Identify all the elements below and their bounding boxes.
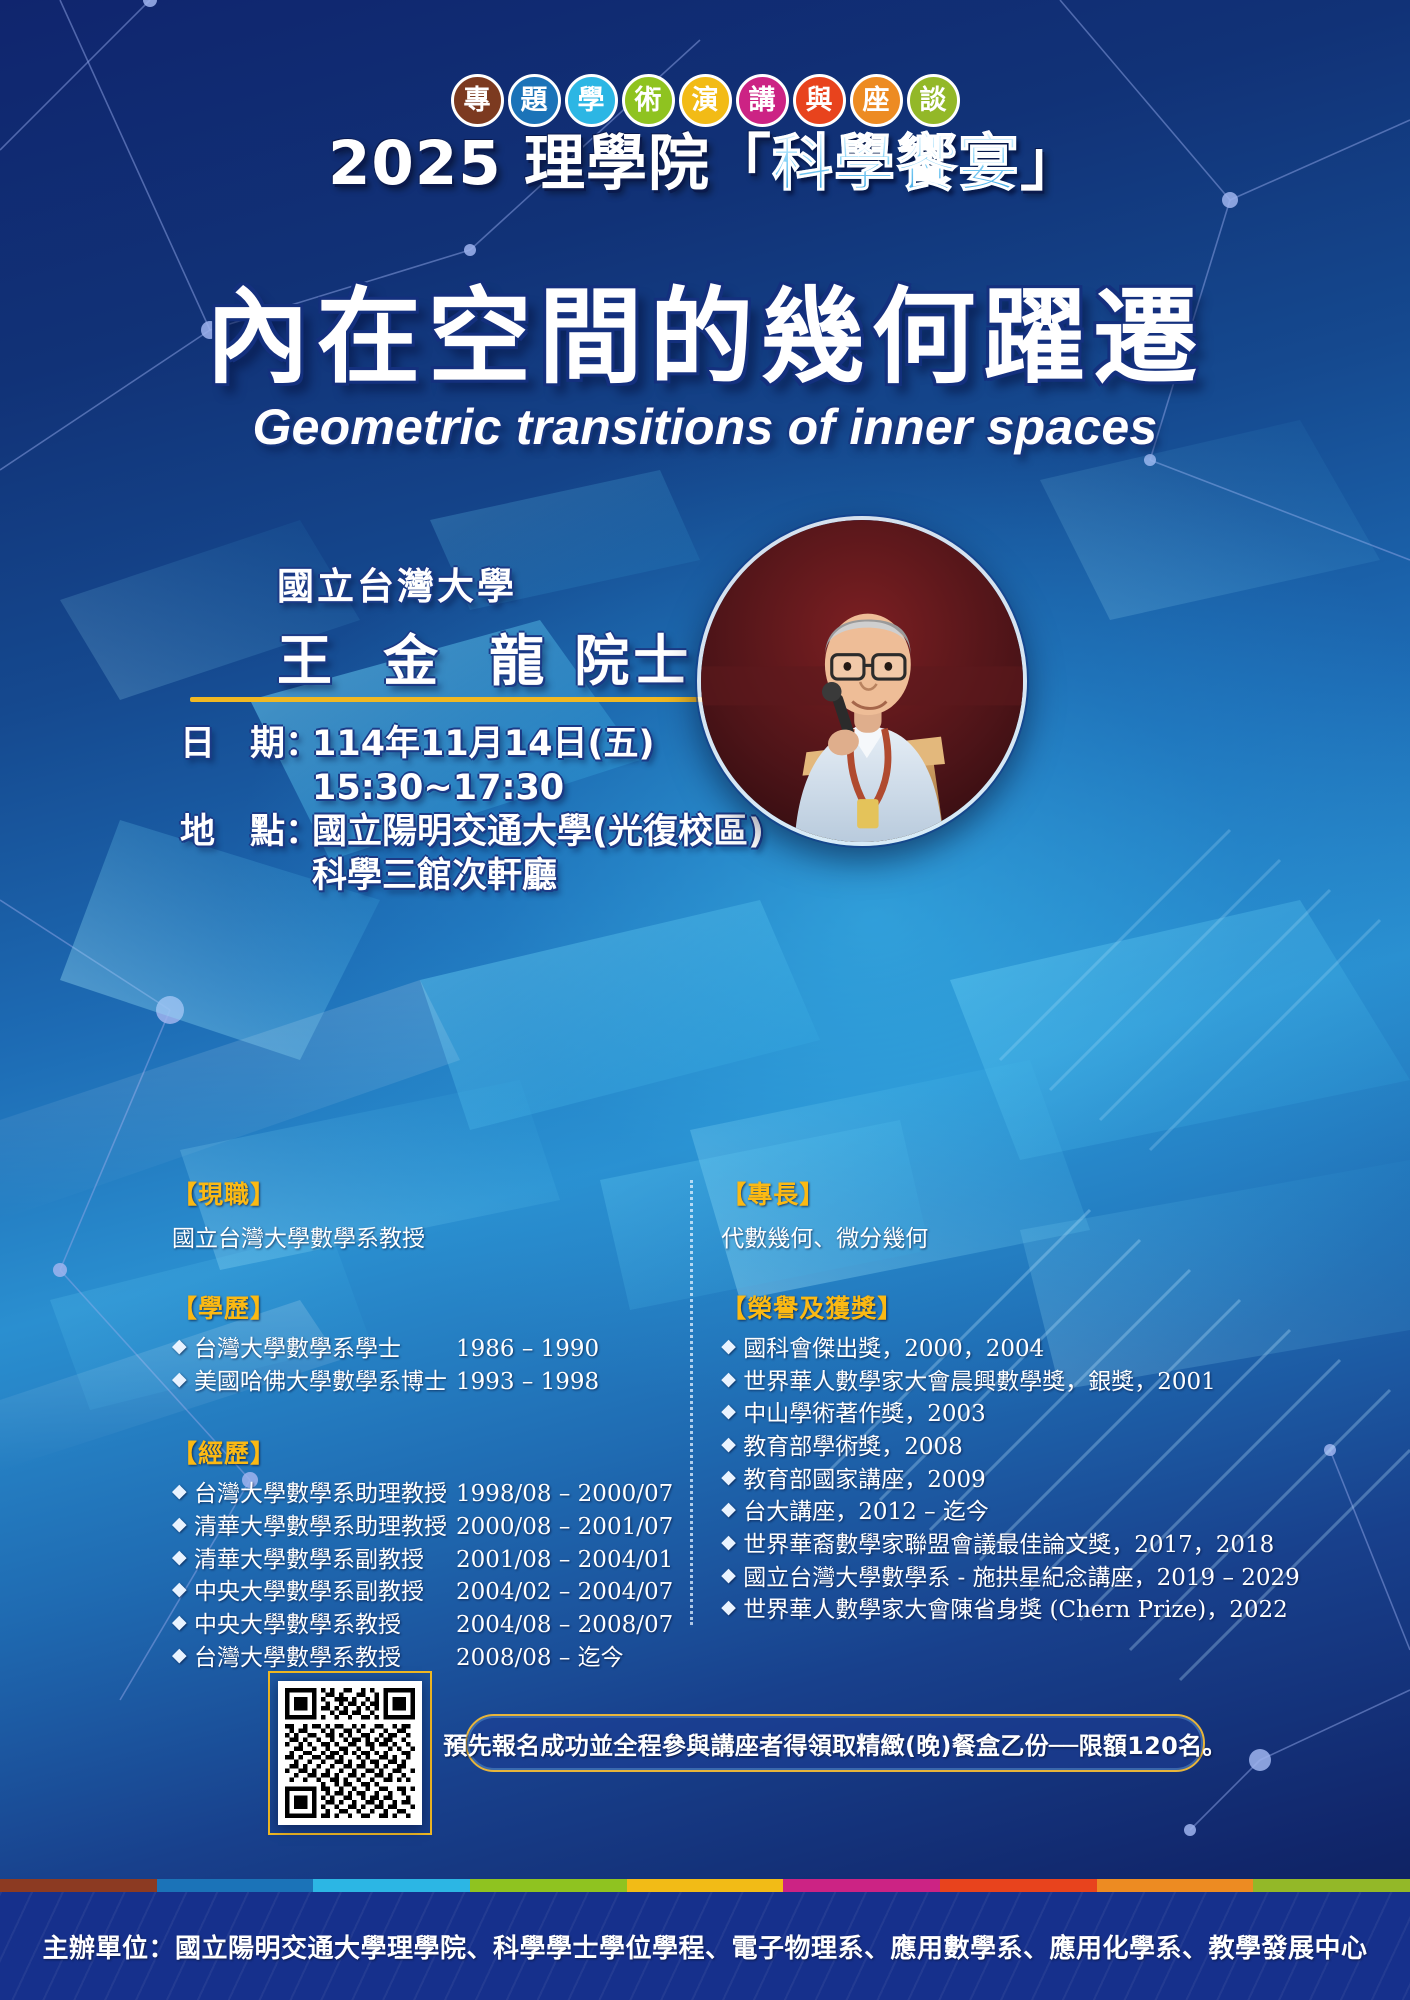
diamond-bullet-icon: ◆ bbox=[172, 1642, 194, 1675]
series-chip-演: 演 bbox=[679, 74, 732, 127]
speaker-title: 院士 bbox=[574, 629, 692, 693]
series-title: 2025 理學院「科學饗宴」 bbox=[0, 133, 1410, 194]
list-item: ◆ 中山學術著作獎，2003 bbox=[721, 1398, 1281, 1431]
color-bar-segment bbox=[470, 1879, 627, 1892]
diamond-bullet-icon: ◆ bbox=[172, 1366, 194, 1399]
awards-list: ◆ 國科會傑出獎，2000，2004 ◆ 世界華人數學家大會晨興數學獎，銀獎，2… bbox=[721, 1333, 1281, 1627]
education-list: ◆ 台灣大學數學系學士 1986 – 1990 ◆ 美國哈佛大學數學系博士 19… bbox=[172, 1333, 673, 1398]
award-text: 台大講座，2012 – 迄今 bbox=[743, 1496, 989, 1529]
detail-row-venue: 地 點： 國立陽明交通大學(光復校區) bbox=[180, 810, 740, 854]
series-chip-與: 與 bbox=[793, 74, 846, 127]
experience-years: 2004/02 – 2004/07 bbox=[456, 1576, 673, 1609]
speaker-photo-illustration bbox=[701, 520, 1023, 842]
footer-color-bar bbox=[0, 1879, 1410, 1892]
series-chip-row: 專 題 學 術 演 講 與 座 談 bbox=[0, 74, 1410, 127]
color-bar-segment bbox=[157, 1879, 314, 1892]
speaker-photo bbox=[697, 516, 1027, 846]
education-name: 美國哈佛大學數學系博士 bbox=[194, 1366, 456, 1399]
detail-value: 國立陽明交通大學(光復校區) bbox=[312, 810, 764, 854]
experience-name: 台灣大學數學系助理教授 bbox=[194, 1478, 456, 1511]
diamond-bullet-icon: ◆ bbox=[721, 1431, 743, 1464]
diamond-bullet-icon: ◆ bbox=[721, 1562, 743, 1595]
experience-years: 2001/08 – 2004/01 bbox=[456, 1544, 673, 1577]
poster-canvas: 專 題 學 術 演 講 與 座 談 2025 理學院「科學饗宴」 內在空間的幾何… bbox=[0, 0, 1410, 2000]
diamond-bullet-icon: ◆ bbox=[172, 1544, 194, 1577]
series-chip-專: 專 bbox=[451, 74, 504, 127]
series-chip-談: 談 bbox=[907, 74, 960, 127]
specialty-text: 代數幾何、微分幾何 bbox=[721, 1219, 1281, 1253]
speaker-affiliation: 國立台灣大學 bbox=[277, 556, 517, 610]
biography-right-column: 【專長】 代數幾何、微分幾何 【榮譽及獲獎】 ◆ 國科會傑出獎，2000，200… bbox=[721, 1175, 1281, 1674]
list-item: ◆ 中央大學數學系副教授 2004/02 – 2004/07 bbox=[172, 1576, 673, 1609]
list-item: ◆ 世界華人數學家大會陳省身獎 (Chern Prize)，2022 bbox=[721, 1594, 1281, 1627]
section-heading-current-position: 【現職】 bbox=[172, 1175, 673, 1211]
biography-section: 【現職】 國立台灣大學數學系教授 【學歷】 ◆ 台灣大學數學系學士 1986 –… bbox=[172, 1175, 1262, 1674]
footer-bar: 主辦單位：國立陽明交通大學理學院、科學學士學位學程、電子物理系、應用數學系、應用… bbox=[0, 1892, 1410, 2000]
experience-name: 台灣大學數學系教授 bbox=[194, 1642, 456, 1675]
detail-row-room: 科學三館次軒廳 bbox=[180, 854, 740, 898]
experience-years: 1998/08 – 2000/07 bbox=[456, 1478, 673, 1511]
divider-rule bbox=[190, 697, 730, 702]
series-title-suffix: 」 bbox=[1020, 128, 1082, 199]
list-item: ◆ 中央大學數學系教授 2004/08 – 2008/07 bbox=[172, 1609, 673, 1642]
award-text: 國科會傑出獎，2000，2004 bbox=[743, 1333, 1044, 1366]
footer-organizers-text: 主辦單位：國立陽明交通大學理學院、科學學士學位學程、電子物理系、應用數學系、應用… bbox=[42, 1928, 1367, 1965]
color-bar-segment bbox=[1253, 1879, 1410, 1892]
section-heading-experience: 【經歷】 bbox=[172, 1434, 673, 1470]
education-years: 1993 – 1998 bbox=[456, 1366, 599, 1399]
award-text: 國立台灣大學數學系 - 施拱星紀念講座，2019 – 2029 bbox=[743, 1562, 1300, 1595]
diamond-bullet-icon: ◆ bbox=[721, 1464, 743, 1497]
series-chip-題: 題 bbox=[508, 74, 561, 127]
diamond-bullet-icon: ◆ bbox=[172, 1609, 194, 1642]
list-item: ◆ 教育部國家講座，2009 bbox=[721, 1464, 1281, 1497]
color-bar-segment bbox=[0, 1879, 157, 1892]
series-title-prefix: 2025 理學院「 bbox=[328, 128, 772, 199]
event-details: 日 期： 114年11月14日(五) 15:30~17:30 地 點： 國立陽明… bbox=[180, 722, 740, 898]
section-heading-awards: 【榮譽及獲獎】 bbox=[721, 1289, 1281, 1325]
experience-name: 清華大學數學系副教授 bbox=[194, 1544, 456, 1577]
diamond-bullet-icon: ◆ bbox=[721, 1398, 743, 1431]
experience-name: 中央大學數學系教授 bbox=[194, 1609, 456, 1642]
diamond-bullet-icon: ◆ bbox=[721, 1594, 743, 1627]
education-name: 台灣大學數學系學士 bbox=[194, 1333, 456, 1366]
page-subtitle: Geometric transitions of inner spaces bbox=[0, 398, 1410, 456]
qr-code[interactable] bbox=[278, 1681, 422, 1825]
experience-years: 2000/08 – 2001/07 bbox=[456, 1511, 673, 1544]
color-bar-segment bbox=[783, 1879, 940, 1892]
color-bar-segment bbox=[940, 1879, 1097, 1892]
diamond-bullet-icon: ◆ bbox=[172, 1511, 194, 1544]
detail-value: 114年11月14日(五) bbox=[312, 722, 740, 766]
detail-label: 地 點： bbox=[180, 810, 312, 854]
list-item: ◆ 台大講座，2012 – 迄今 bbox=[721, 1496, 1281, 1529]
list-item: ◆ 台灣大學數學系助理教授 1998/08 – 2000/07 bbox=[172, 1478, 673, 1511]
list-item: ◆ 台灣大學數學系教授 2008/08 – 迄今 bbox=[172, 1642, 673, 1675]
diamond-bullet-icon: ◆ bbox=[172, 1576, 194, 1609]
list-item: ◆ 美國哈佛大學數學系博士 1993 – 1998 bbox=[172, 1366, 673, 1399]
list-item: ◆ 國科會傑出獎，2000，2004 bbox=[721, 1333, 1281, 1366]
diamond-bullet-icon: ◆ bbox=[721, 1333, 743, 1366]
page-title: 內在空間的幾何躍遷 bbox=[0, 278, 1410, 398]
detail-label: 日 期： bbox=[180, 722, 312, 766]
qr-code-image bbox=[285, 1688, 415, 1818]
diamond-bullet-icon: ◆ bbox=[721, 1496, 743, 1529]
award-text: 教育部國家講座，2009 bbox=[743, 1464, 986, 1497]
education-years: 1986 – 1990 bbox=[456, 1333, 599, 1366]
diamond-bullet-icon: ◆ bbox=[721, 1366, 743, 1399]
award-text: 世界華裔數學家聯盟會議最佳論文獎，2017，2018 bbox=[743, 1529, 1274, 1562]
series-chip-術: 術 bbox=[622, 74, 675, 127]
series-chip-學: 學 bbox=[565, 74, 618, 127]
series-chip-座: 座 bbox=[850, 74, 903, 127]
list-item: ◆ 教育部學術獎，2008 bbox=[721, 1431, 1281, 1464]
color-bar-segment bbox=[1097, 1879, 1254, 1892]
speaker-name: 王 金 龍 bbox=[277, 629, 560, 693]
diamond-bullet-icon: ◆ bbox=[172, 1478, 194, 1511]
experience-years: 2004/08 – 2008/07 bbox=[456, 1609, 673, 1642]
registration-notice-text: 預先報名成功並全程參與講座者得領取精緻(晚)餐盒乙份──限額120名。 bbox=[443, 1726, 1226, 1761]
detail-row-date: 日 期： 114年11月14日(五) bbox=[180, 722, 740, 766]
series-chip-講: 講 bbox=[736, 74, 789, 127]
award-text: 中山學術著作獎，2003 bbox=[743, 1398, 986, 1431]
registration-notice: 預先報名成功並全程參與講座者得領取精緻(晚)餐盒乙份──限額120名。 bbox=[465, 1714, 1205, 1772]
list-item: ◆ 世界華裔數學家聯盟會議最佳論文獎，2017，2018 bbox=[721, 1529, 1281, 1562]
experience-name: 中央大學數學系副教授 bbox=[194, 1576, 456, 1609]
section-heading-specialty: 【專長】 bbox=[721, 1175, 1281, 1211]
list-item: ◆ 世界華人數學家大會晨興數學獎，銀獎，2001 bbox=[721, 1366, 1281, 1399]
award-text: 教育部學術獎，2008 bbox=[743, 1431, 963, 1464]
detail-row-time: 15:30~17:30 bbox=[180, 766, 740, 810]
color-bar-segment bbox=[627, 1879, 784, 1892]
experience-years: 2008/08 – 迄今 bbox=[456, 1642, 624, 1675]
speaker-name-row: 王 金 龍院士 bbox=[277, 616, 692, 696]
biography-left-column: 【現職】 國立台灣大學數學系教授 【學歷】 ◆ 台灣大學數學系學士 1986 –… bbox=[172, 1175, 673, 1674]
detail-value: 科學三館次軒廳 bbox=[312, 854, 740, 898]
diamond-bullet-icon: ◆ bbox=[721, 1529, 743, 1562]
experience-name: 清華大學數學系助理教授 bbox=[194, 1511, 456, 1544]
experience-list: ◆ 台灣大學數學系助理教授 1998/08 – 2000/07 ◆ 清華大學數學… bbox=[172, 1478, 673, 1674]
section-heading-education: 【學歷】 bbox=[172, 1289, 673, 1325]
color-bar-segment bbox=[313, 1879, 470, 1892]
award-text: 世界華人數學家大會陳省身獎 (Chern Prize)，2022 bbox=[743, 1594, 1288, 1627]
list-item: ◆ 台灣大學數學系學士 1986 – 1990 bbox=[172, 1333, 673, 1366]
list-item: ◆ 國立台灣大學數學系 - 施拱星紀念講座，2019 – 2029 bbox=[721, 1562, 1281, 1595]
list-item: ◆ 清華大學數學系助理教授 2000/08 – 2001/07 bbox=[172, 1511, 673, 1544]
series-title-highlight: 科學饗宴 bbox=[772, 128, 1020, 199]
list-item: ◆ 清華大學數學系副教授 2001/08 – 2004/01 bbox=[172, 1544, 673, 1577]
detail-value: 15:30~17:30 bbox=[312, 766, 740, 810]
diamond-bullet-icon: ◆ bbox=[172, 1333, 194, 1366]
current-position-text: 國立台灣大學數學系教授 bbox=[172, 1219, 673, 1253]
award-text: 世界華人數學家大會晨興數學獎，銀獎，2001 bbox=[743, 1366, 1216, 1399]
